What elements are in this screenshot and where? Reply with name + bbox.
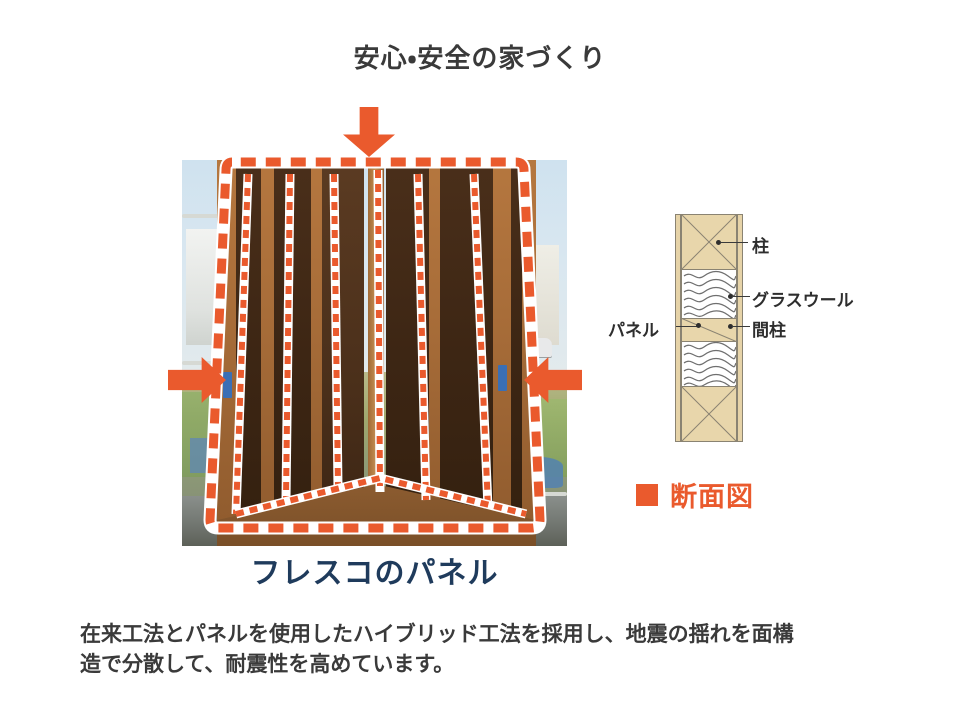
glasswool-hatch-lower-icon <box>682 342 737 386</box>
page-title: 安心・安全の家づくり <box>0 38 960 75</box>
label-glasswool: グラスウール <box>752 286 854 311</box>
label-stud: 間柱 <box>752 316 786 341</box>
leader-line-panel <box>676 326 698 327</box>
panel-bay-2 <box>274 160 312 546</box>
wall-panel-frame <box>217 160 537 546</box>
leader-line-pillar <box>720 242 748 243</box>
leader-line-stud <box>732 326 750 327</box>
section-glasswool-lower <box>681 342 737 386</box>
section-legend: 断面図 <box>636 475 754 514</box>
leader-dot-panel <box>696 323 701 328</box>
panel-stud-6 <box>522 160 536 546</box>
leader-line-glasswool <box>732 296 750 297</box>
section-stud <box>681 318 737 342</box>
wall-section-diagram: 柱 グラスウール 間柱 パネル <box>600 196 910 466</box>
body-line-1: 在来工法とパネルを使用したハイブリッド工法を採用し、地震の揺れを面構 <box>80 620 910 650</box>
photo-caption: フレスコのパネル <box>182 548 567 592</box>
panel-bay-5 <box>440 160 494 546</box>
construction-photo <box>182 160 567 546</box>
section-panel-right <box>737 214 743 442</box>
label-pillar: 柱 <box>752 232 769 257</box>
panel-bay-3 <box>322 160 364 546</box>
body-paragraph: 在来工法とパネルを使用したハイブリッド工法を採用し、地震の揺れを面構 造で分散し… <box>80 620 910 681</box>
panel-stud-1 <box>217 160 236 546</box>
panel-tag-left <box>223 372 232 398</box>
slide-root: 安心・安全の家づくり <box>0 0 960 720</box>
label-panel: パネル <box>608 316 659 341</box>
legend-label: 断面図 <box>670 475 754 514</box>
panel-stud-5 <box>493 160 512 546</box>
panel-corner-post <box>368 160 384 500</box>
photo-block <box>182 160 567 546</box>
legend-swatch-icon <box>636 484 658 506</box>
section-pillar-bottom <box>681 386 737 442</box>
force-arrow-down-icon <box>343 107 395 157</box>
panel-tag-right <box>498 365 507 391</box>
body-line-2: 造で分散して、耐震性を高めています。 <box>80 650 910 680</box>
